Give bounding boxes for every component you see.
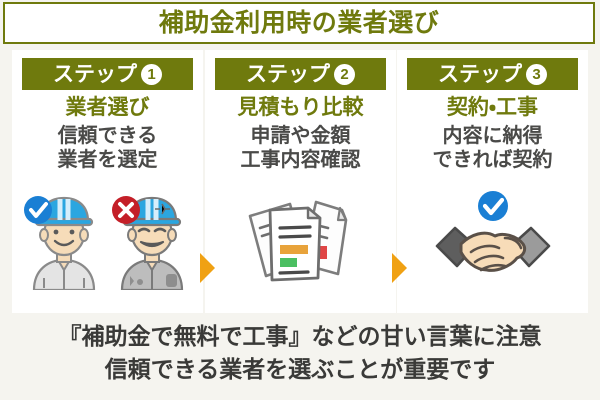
page-title: 補助金利用時の業者選び [159, 11, 440, 36]
step-2-badge: ステップ 2 [215, 58, 386, 90]
step-2-body-line-2: 工事内容確認 [205, 148, 396, 172]
step-3-number: 3 [526, 64, 547, 85]
step-card-3: ステップ 3 契約・工事 内容に納得 できれば契約 [397, 50, 588, 313]
step-1-badge-label: ステップ [53, 64, 137, 85]
step-2-badge-text: ステップ 2 [246, 64, 355, 85]
footer-line-2: 信頼できる業者を選ぶことが重要です [0, 353, 600, 386]
step-3-badge-label: ステップ [438, 64, 522, 85]
stacked-documents-icon [242, 190, 360, 294]
check-badge-icon [24, 196, 52, 224]
step-2-illustration [205, 190, 396, 308]
step-3-body-line-2: できれば契約 [397, 148, 588, 172]
step-card-1: ステップ 1 業者選び 信頼できる 業者を選定 [12, 50, 203, 313]
step-3-illustration [397, 190, 588, 308]
step-2-badge-label: ステップ [246, 64, 330, 85]
step1-to-step2-arrow [200, 253, 215, 283]
two-workers-illustration [22, 190, 194, 290]
step-1-illustration [12, 190, 203, 308]
worker-bad-icon [110, 190, 194, 290]
worker-good-icon [22, 190, 106, 290]
step-2-body: 申請や金額 工事内容確認 [205, 124, 396, 173]
step-3-title: 契約・工事 [397, 96, 588, 119]
step-1-body: 信頼できる 業者を選定 [12, 124, 203, 173]
step2-to-step3-arrow [392, 253, 407, 283]
step-2-body-line-1: 申請や金額 [205, 124, 396, 148]
page-title-box: 補助金利用時の業者選び [3, 2, 595, 44]
step-3-badge-text: ステップ 3 [438, 64, 547, 85]
footer-line-1: 『補助金で無料で工事』などの甘い言葉に注意 [0, 320, 600, 353]
handshake-icon [431, 190, 555, 294]
footer-message: 『補助金で無料で工事』などの甘い言葉に注意 信頼できる業者を選ぶことが重要です [0, 320, 600, 385]
step-2-title: 見積もり比較 [205, 96, 396, 119]
step-1-title: 業者選び [12, 96, 203, 119]
step-1-badge-text: ステップ 1 [53, 64, 162, 85]
step-card-2: ステップ 2 見積もり比較 申請や金額 工事内容確認 [205, 50, 396, 313]
steps-container: ステップ 1 業者選び 信頼できる 業者を選定 [0, 50, 600, 315]
step-3-badge: ステップ 3 [407, 58, 578, 90]
step-1-body-line-2: 業者を選定 [12, 148, 203, 172]
step-1-number: 1 [141, 64, 162, 85]
step-1-badge: ステップ 1 [22, 58, 193, 90]
step-3-body-line-1: 内容に納得 [397, 124, 588, 148]
check-badge-icon [478, 191, 508, 221]
step-1-body-line-1: 信頼できる [12, 124, 203, 148]
step-3-body: 内容に納得 できれば契約 [397, 124, 588, 173]
step-2-number: 2 [334, 64, 355, 85]
